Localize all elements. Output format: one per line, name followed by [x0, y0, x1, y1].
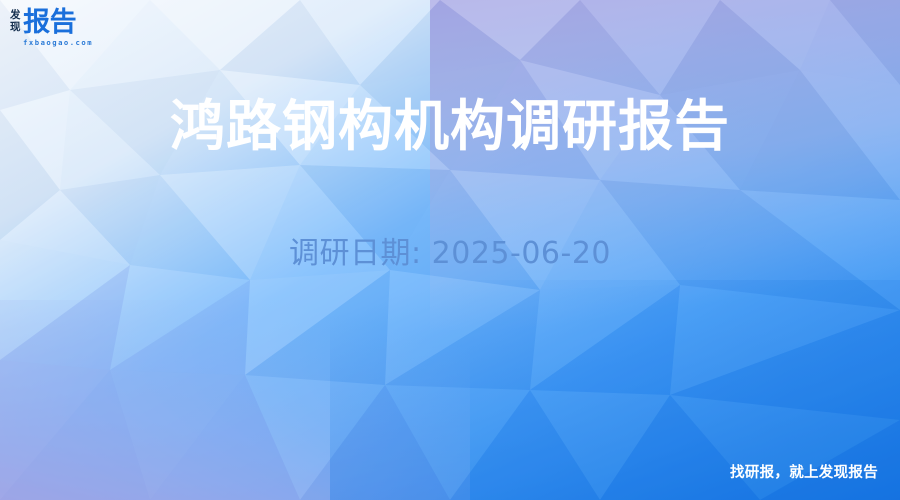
- page-title: 鸿路钢构机构调研报告: [0, 93, 900, 159]
- brand-logo[interactable]: 发 现 报告 fxbaogao.com: [10, 9, 93, 53]
- survey-date-subtitle: 调研日期: 2025-06-20: [0, 234, 900, 274]
- report-cover-slide: 发 现 报告 fxbaogao.com 鸿路钢构机构调研报告 调研日期: 202…: [0, 0, 900, 500]
- logo-text-block: 报告 fxbaogao.com: [23, 9, 93, 47]
- logo-mark-icon: 发 现: [10, 10, 20, 33]
- logo-mark-line-1: 发: [10, 10, 20, 22]
- logo-wordmark: 报告: [23, 9, 93, 36]
- footer-slogan: 找研报，就上发现报告: [730, 464, 878, 482]
- logo-domain: fxbaogao.com: [23, 38, 93, 47]
- logo-mark-line-2: 现: [10, 22, 20, 34]
